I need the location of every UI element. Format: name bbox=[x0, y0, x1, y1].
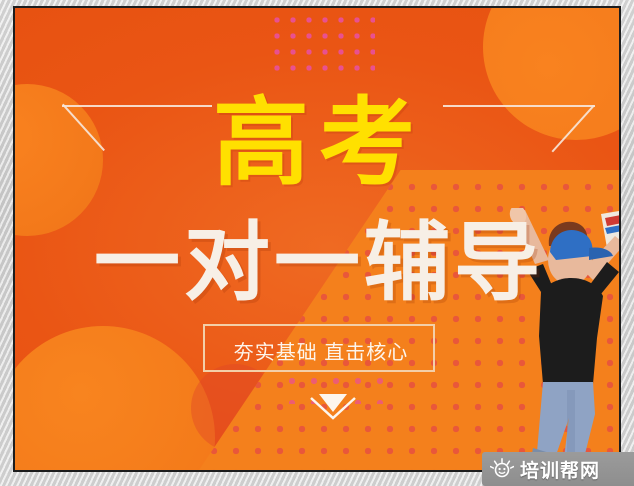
promo-poster: 高考 一对一辅导 夯实基础 直击核心 bbox=[13, 6, 621, 472]
screenshot-frame: 高考 一对一辅导 夯实基础 直击核心 培训帮网 bbox=[0, 0, 634, 486]
poster-canvas: 高考 一对一辅导 夯实基础 直击核心 bbox=[15, 8, 619, 470]
watermark: 培训帮网 bbox=[482, 452, 634, 486]
page-subtitle: 一对一辅导 bbox=[15, 220, 619, 306]
tagline-text: 夯实基础 直击核心 bbox=[205, 326, 437, 374]
sun-smiley-icon bbox=[490, 457, 514, 481]
watermark-text: 培训帮网 bbox=[520, 456, 600, 483]
dot-grid-pink bbox=[267, 10, 375, 76]
page-title: 高考 bbox=[15, 96, 619, 192]
tagline-box: 夯实基础 直击核心 bbox=[203, 324, 435, 372]
chevron-down-icon bbox=[305, 390, 361, 420]
